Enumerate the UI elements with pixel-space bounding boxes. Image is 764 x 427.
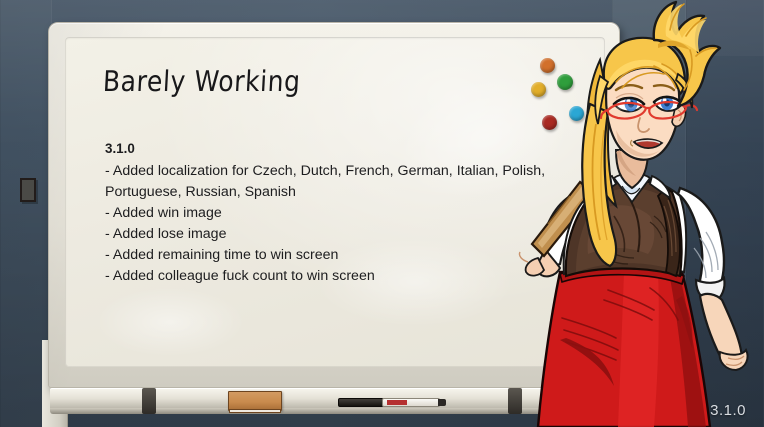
teacher-character [504, 0, 764, 427]
version-label: 3.1.0 [710, 402, 746, 419]
changelog-entry: - Added win image [105, 203, 567, 224]
changelog-entry: - Added localization for Czech, Dutch, F… [105, 161, 567, 203]
changelog-text: 3.1.0 - Added localization for Czech, Du… [105, 138, 567, 287]
eraser-felt [229, 409, 281, 413]
marker-band [387, 400, 407, 405]
changelog-entry: - Added lose image [105, 224, 567, 245]
black-marker-icon [338, 398, 384, 407]
page-title: Barely Working [102, 65, 301, 98]
wall-fixture-icon [20, 178, 36, 202]
changelog-entry: - Added remaining time to win screen [105, 245, 567, 266]
changelog-entry: - Added colleague fuck count to win scre… [105, 266, 567, 287]
eraser-icon [228, 391, 282, 411]
surface-smudge [95, 287, 245, 357]
changelog-version: 3.1.0 [105, 138, 567, 159]
marker-tip [438, 399, 446, 406]
tray-clip-left [142, 388, 156, 414]
game-scene: Barely Working 3.1.0 - Added localizatio… [0, 0, 764, 427]
